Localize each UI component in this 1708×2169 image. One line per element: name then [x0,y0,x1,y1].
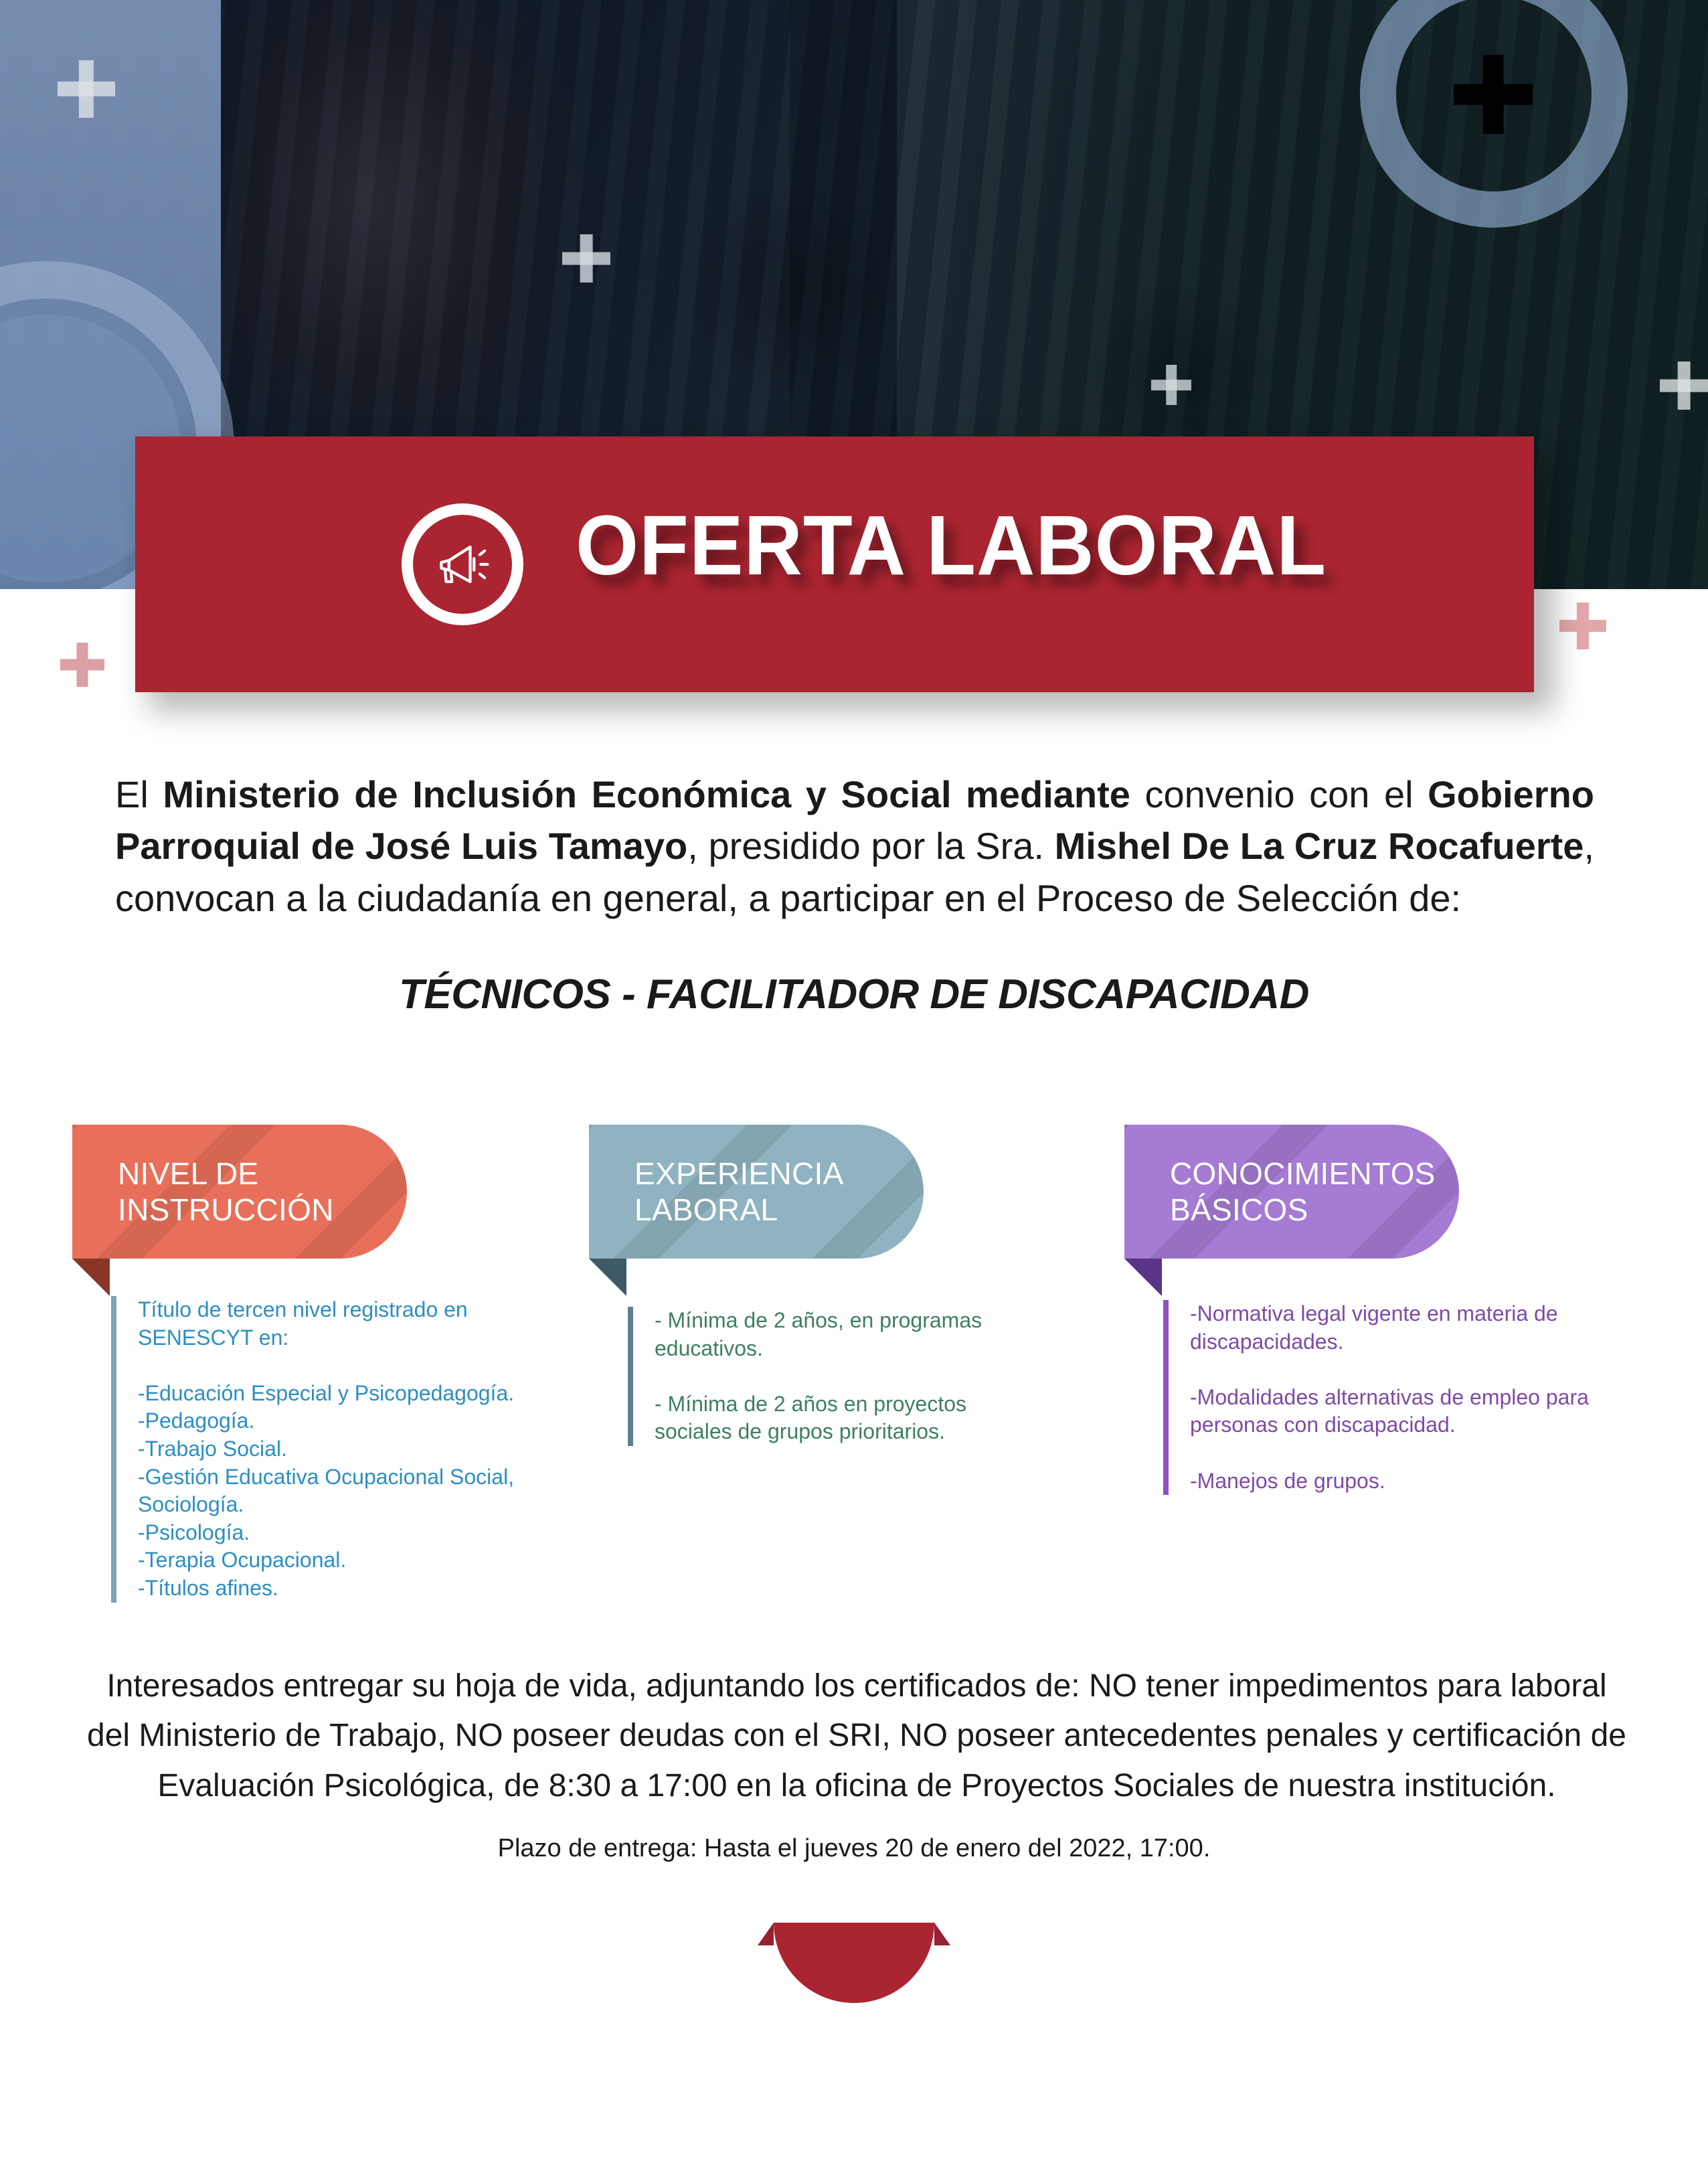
page-title: OFERTA LABORAL [576,497,1327,594]
column-header-label: NIVEL DE INSTRUCCIÓN [118,1155,334,1228]
requirements-column-conocimientos: CONOCIMIENTOS BÁSICOS -Normativa legal v… [1124,1125,1620,1259]
column-header-banner: EXPERIENCIA LABORAL [589,1125,924,1259]
role-title: TÉCNICOS - FACILITADOR DE DISCAPACIDAD [0,971,1708,1018]
column-body-text: Título de tercen nivel registrado en SEN… [111,1296,539,1603]
banner-tail [589,1259,626,1296]
plus-icon [1559,602,1606,649]
intro-bold-1: Ministerio de Inclusión Económica y Soci… [163,773,1130,815]
requirements-column-instruccion: NIVEL DE INSTRUCCIÓN Título de tercen ni… [72,1125,568,1259]
column-header-label: CONOCIMIENTOS BÁSICOS [1170,1155,1436,1228]
column-header-banner: CONOCIMIENTOS BÁSICOS [1124,1125,1459,1259]
application-instructions: Interesados entregar su hoja de vida, ad… [87,1662,1626,1811]
requirements-columns: NIVEL DE INSTRUCCIÓN Título de tercen ni… [0,1125,1708,1633]
banner-tail [1124,1259,1162,1296]
column-header-banner: NIVEL DE INSTRUCCIÓN [72,1125,407,1259]
job-posting-poster: OFERTA LABORAL El Ministerio de Inclusió… [0,0,1708,2169]
deadline-text: Plazo de entrega: Hasta el jueves 20 de … [0,1834,1708,1863]
banner-tail [72,1259,110,1296]
column-header-label: EXPERIENCIA LABORAL [634,1155,844,1228]
column-body-text: -Normativa legal vigente en materia de d… [1163,1300,1598,1495]
column-body-text: - Mínima de 2 años, en programas educati… [628,1307,1043,1446]
intro-text-1: El [115,773,163,815]
poster-footer: # Mishel DeLaCruz PRESIDENTA Muey no se … [0,1968,1708,2169]
plus-icon [60,643,104,687]
intro-text-2: convenio con el [1130,773,1428,815]
intro-text-3: , presidido por la Sra. [687,825,1054,867]
megaphone-icon [413,515,512,614]
megaphone-badge [402,503,523,625]
intro-bold-3: Mishel De La Cruz Rocafuerte [1055,825,1584,867]
requirements-column-experiencia: EXPERIENCIA LABORAL - Mínima de 2 años, … [589,1125,1084,1259]
intro-paragraph: El Ministerio de Inclusión Económica y S… [115,769,1594,924]
